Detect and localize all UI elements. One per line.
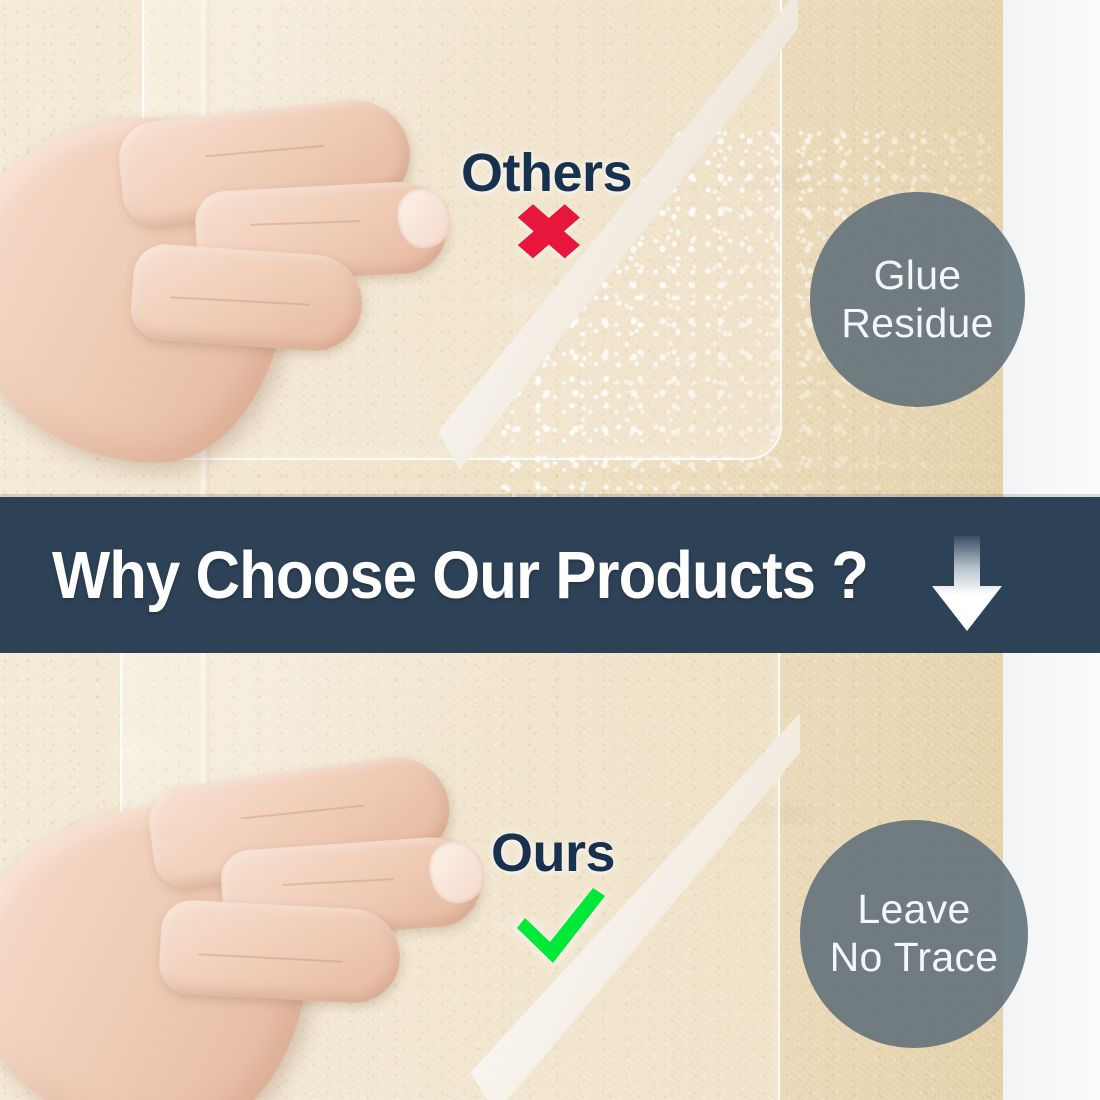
banner-title: Why Choose Our Products ? <box>52 537 868 614</box>
badge-trace-line2: No Trace <box>830 934 999 982</box>
badge-glue-line2: Residue <box>841 300 994 348</box>
cross-mark-icon: ✖ <box>512 196 585 272</box>
right-margin-strip-top <box>1003 0 1100 497</box>
badge-leave-no-trace: Leave No Trace <box>800 820 1028 1048</box>
badge-glue-line1: Glue <box>841 252 994 300</box>
leather-crease-line <box>198 0 212 497</box>
right-margin-strip-bottom <box>1003 653 1100 1100</box>
comparison-infographic: Others ✖ Glue Residue Why Choose Our Pro… <box>0 0 1100 1100</box>
badge-glue-residue: Glue Residue <box>810 192 1025 407</box>
badge-trace-line1: Leave <box>830 886 999 934</box>
down-arrow-icon <box>928 536 1006 632</box>
leather-crease-line-bottom <box>198 653 212 1100</box>
label-ours: Ours <box>491 822 615 884</box>
check-mark-icon <box>509 884 609 966</box>
